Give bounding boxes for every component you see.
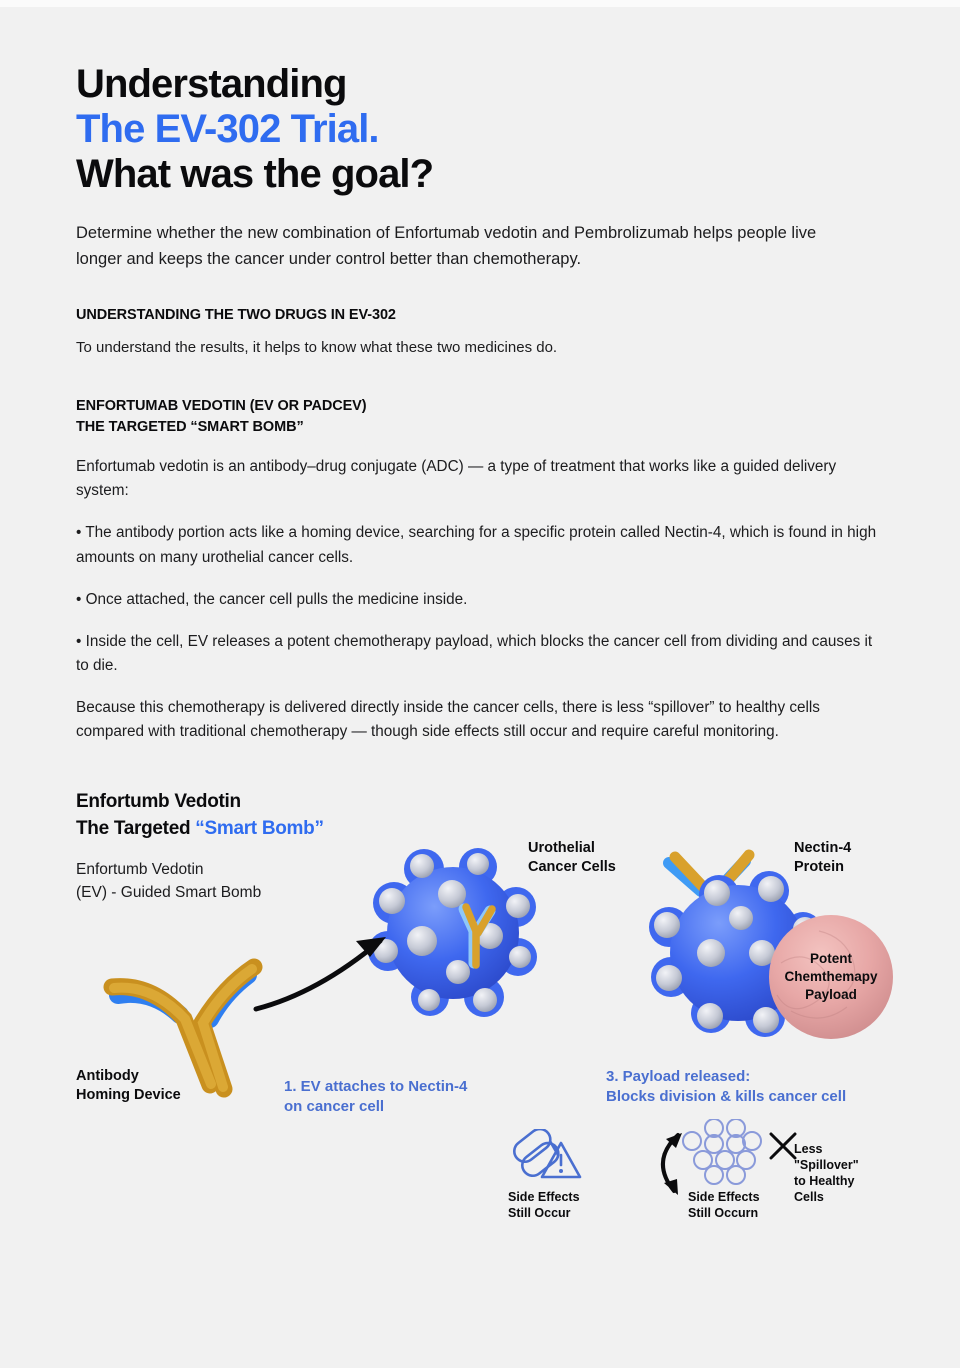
drug-bullet-3: • Inside the cell, EV releases a potent …: [76, 630, 884, 678]
diagram-title-line-2-accent: “Smart Bomb”: [195, 818, 323, 839]
caption-side-effects-1: Side Effects Still Occur: [508, 1189, 580, 1222]
section-heading-two-drugs: UNDERSTANDING THE TWO DRUGS IN EV-302: [76, 307, 884, 323]
payload-label-line-3: Payload: [805, 987, 857, 1002]
payload-label-line-1: Potent: [810, 951, 853, 966]
flow-arrow-icon: [248, 911, 408, 1021]
smart-bomb-diagram: Enfortumb Vedotin The Targeted “Smart Bo…: [76, 789, 884, 1209]
drug-closing-paragraph: Because this chemotherapy is delivered d…: [76, 696, 876, 744]
drug-heading-line-1: ENFORTUMAB VEDOTIN (EV OR PADCEV): [76, 398, 366, 414]
healthy-cells-cluster-icon: [678, 1119, 764, 1185]
label-urothelial-cancer-cells: Urothelial Cancer Cells: [528, 839, 616, 877]
infographic-page: Understanding The EV-302 Trial. What was…: [0, 0, 960, 1368]
diagram-title-line-1: Enfortumb Vedotin: [76, 791, 241, 812]
lede-paragraph: Determine whether the new combination of…: [76, 220, 866, 273]
cancer-cell-right-icon: Potent Chemthemapy Payload: [641, 835, 960, 1050]
headline-line-1: Understanding: [76, 62, 347, 106]
drug-bullet-2: • Once attached, the cancer cell pulls t…: [76, 588, 884, 612]
diagram-title-line-2-plain: The Targeted: [76, 818, 195, 839]
side-effects-pills-icon: [506, 1129, 586, 1185]
drug-intro-paragraph: Enfortumab vedotin is an antibody–drug c…: [76, 455, 876, 503]
headline-line-3: What was the goal?: [76, 152, 433, 196]
section-subtext-two-drugs: To understand the results, it helps to k…: [76, 336, 884, 360]
cross-out-icon: [766, 1129, 800, 1163]
page-title: Understanding The EV-302 Trial. What was…: [76, 62, 884, 198]
drug-heading-line-2: THE TARGETED “SMART BOMB”: [76, 419, 304, 435]
caption-less-spillover: Less "Spillover" to Healthy Cells: [794, 1141, 884, 1206]
headline-line-2: The EV-302 Trial.: [76, 107, 379, 151]
section-heading-enfortumab: ENFORTUMAB VEDOTIN (EV OR PADCEV) THE TA…: [76, 396, 884, 437]
step-1-caption: 1. EV attaches to Nectin-4 on cancer cel…: [284, 1077, 467, 1118]
caption-side-effects-2: Side Effects Still Occurn: [688, 1189, 760, 1222]
page-content: Understanding The EV-302 Trial. What was…: [0, 0, 960, 1209]
drug-bullet-1: • The antibody portion acts like a homin…: [76, 521, 884, 569]
step-3-caption: 3. Payload released: Blocks division & k…: [606, 1067, 846, 1108]
payload-label-line-2: Chemthemapy: [784, 969, 878, 984]
